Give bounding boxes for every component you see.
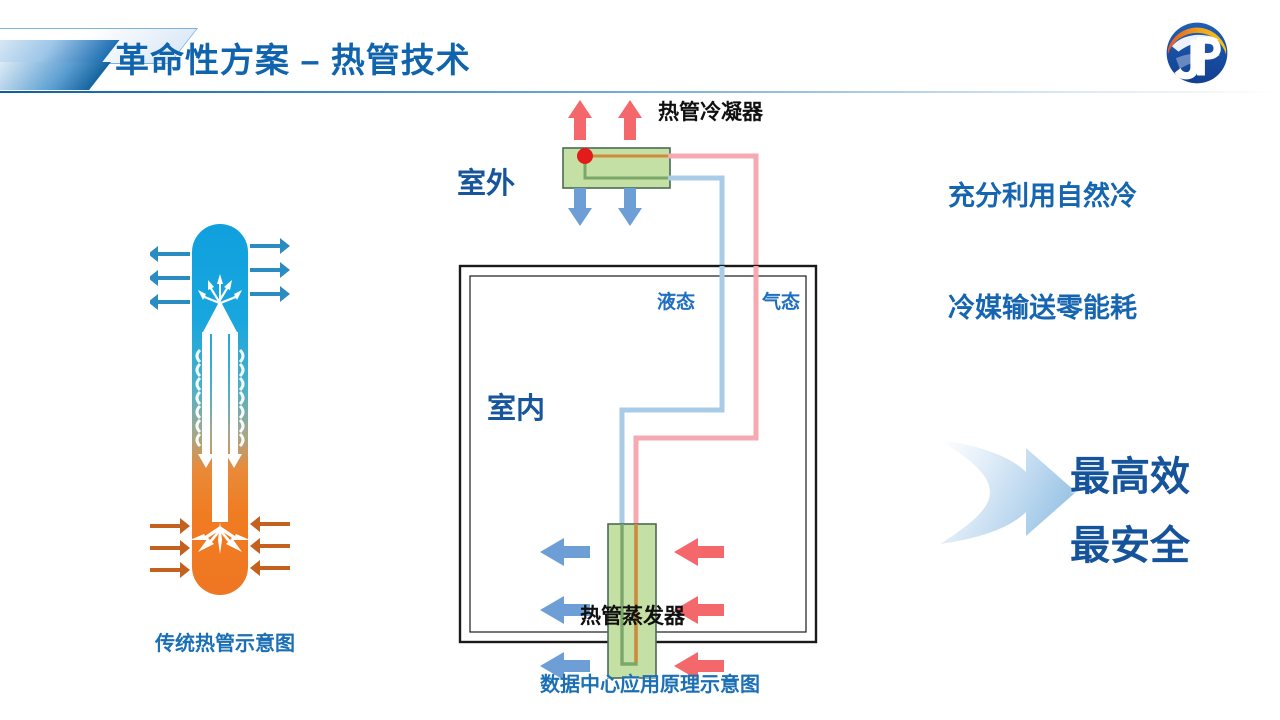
label-liquid-state: 液态 xyxy=(657,287,695,314)
label-indoor: 室内 xyxy=(487,385,545,427)
benefit-text-2: 冷媒输送零能耗 xyxy=(948,286,1137,325)
condenser-marker-dot xyxy=(577,148,593,164)
conclusion-text-2: 最安全 xyxy=(1070,513,1190,571)
condenser-hot-arrows xyxy=(568,100,642,140)
datacenter-schematic: 热管冷凝器 室外 室内 液态 气态 热管蒸发器 xyxy=(440,90,860,690)
header-decoration-dark xyxy=(0,62,111,90)
slide-root: 革命性方案 – 热管技术 xyxy=(0,0,1280,720)
label-heat-pipe-condenser: 热管冷凝器 xyxy=(658,96,763,126)
label-outdoor: 室外 xyxy=(457,160,515,202)
label-heat-pipe-evaporator: 热管蒸发器 xyxy=(580,600,685,630)
label-gas-state: 气态 xyxy=(762,287,800,314)
company-logo-icon xyxy=(1164,20,1230,86)
condenser-cold-arrows xyxy=(568,188,642,226)
conclusion-text-1: 最高效 xyxy=(1070,444,1190,502)
center-figure-caption: 数据中心应用原理示意图 xyxy=(440,668,860,697)
page-title: 革命性方案 – 热管技术 xyxy=(115,33,471,82)
benefit-text-1: 充分利用自然冷 xyxy=(948,174,1137,213)
gas-pipe-line xyxy=(636,156,756,524)
right-block-arrow-icon xyxy=(938,432,1078,552)
traditional-heat-pipe-figure xyxy=(150,222,290,597)
slide-header: 革命性方案 – 热管技术 xyxy=(0,0,1280,92)
left-figure-caption: 传统热管示意图 xyxy=(100,627,350,656)
